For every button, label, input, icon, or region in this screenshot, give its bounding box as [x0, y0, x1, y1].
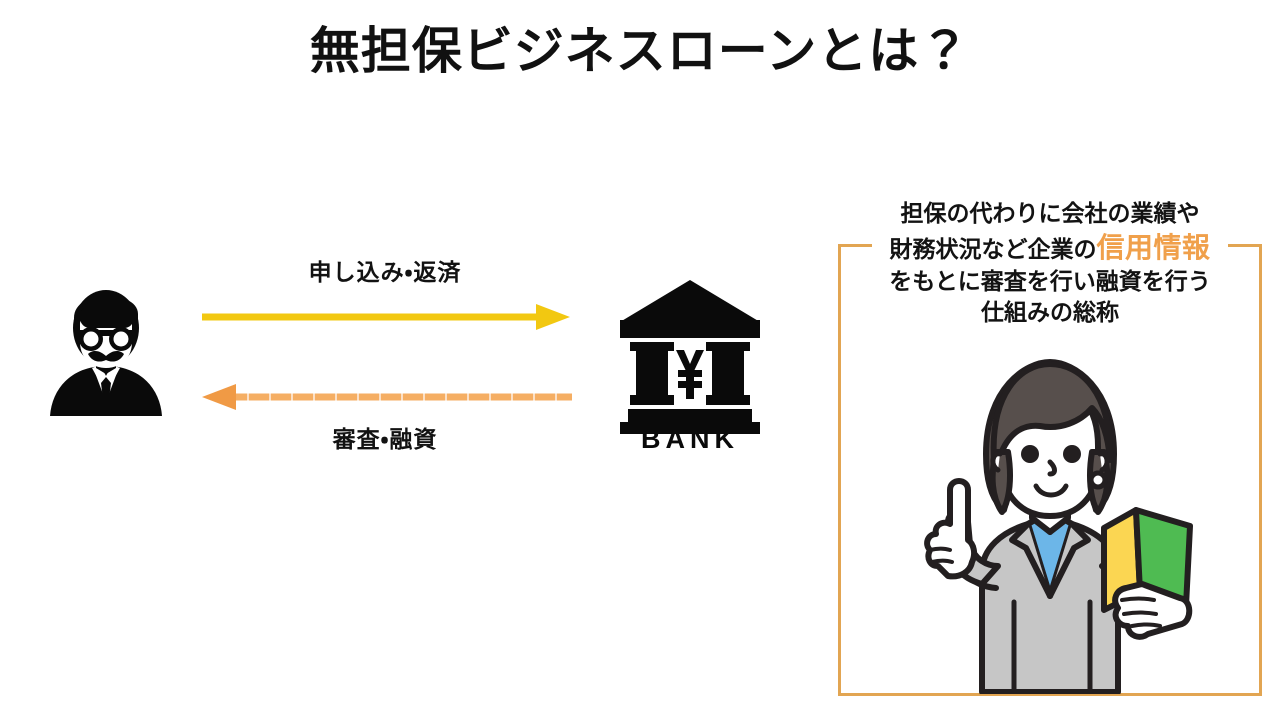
arrow-left-review-icon	[200, 380, 572, 414]
definition-line-4: 仕組みの総称	[981, 299, 1119, 325]
bank-label: BANK	[600, 424, 780, 455]
definition-keyword: 信用情報	[1096, 232, 1210, 263]
definition-line-3: をもとに審査を行い融資を行う	[889, 268, 1211, 294]
arrow-apply-label: 申し込み・返済	[205, 253, 565, 287]
bank-building-icon	[614, 276, 766, 436]
loan-flow-diagram: 申し込み・返済	[0, 240, 800, 470]
arrow-right-apply-icon	[200, 300, 572, 334]
definition-text: 担保の代わりに会社の業績や 財務状況など企業の信用情報 をもとに審査を行い融資を…	[830, 198, 1270, 328]
arrow-review-label: 審査・融資	[205, 420, 565, 454]
businessman-avatar-icon	[36, 284, 176, 424]
page-title: 無担保ビジネスローンとは？	[0, 24, 1280, 79]
definition-line-1: 担保の代わりに会社の業績や	[901, 200, 1200, 226]
woman-pointing-with-booklet-illustration	[890, 334, 1210, 694]
definition-panel: 担保の代わりに会社の業績や 財務状況など企業の信用情報 をもとに審査を行い融資を…	[838, 200, 1262, 700]
definition-line-2: 財務状況など企業の	[889, 236, 1096, 262]
